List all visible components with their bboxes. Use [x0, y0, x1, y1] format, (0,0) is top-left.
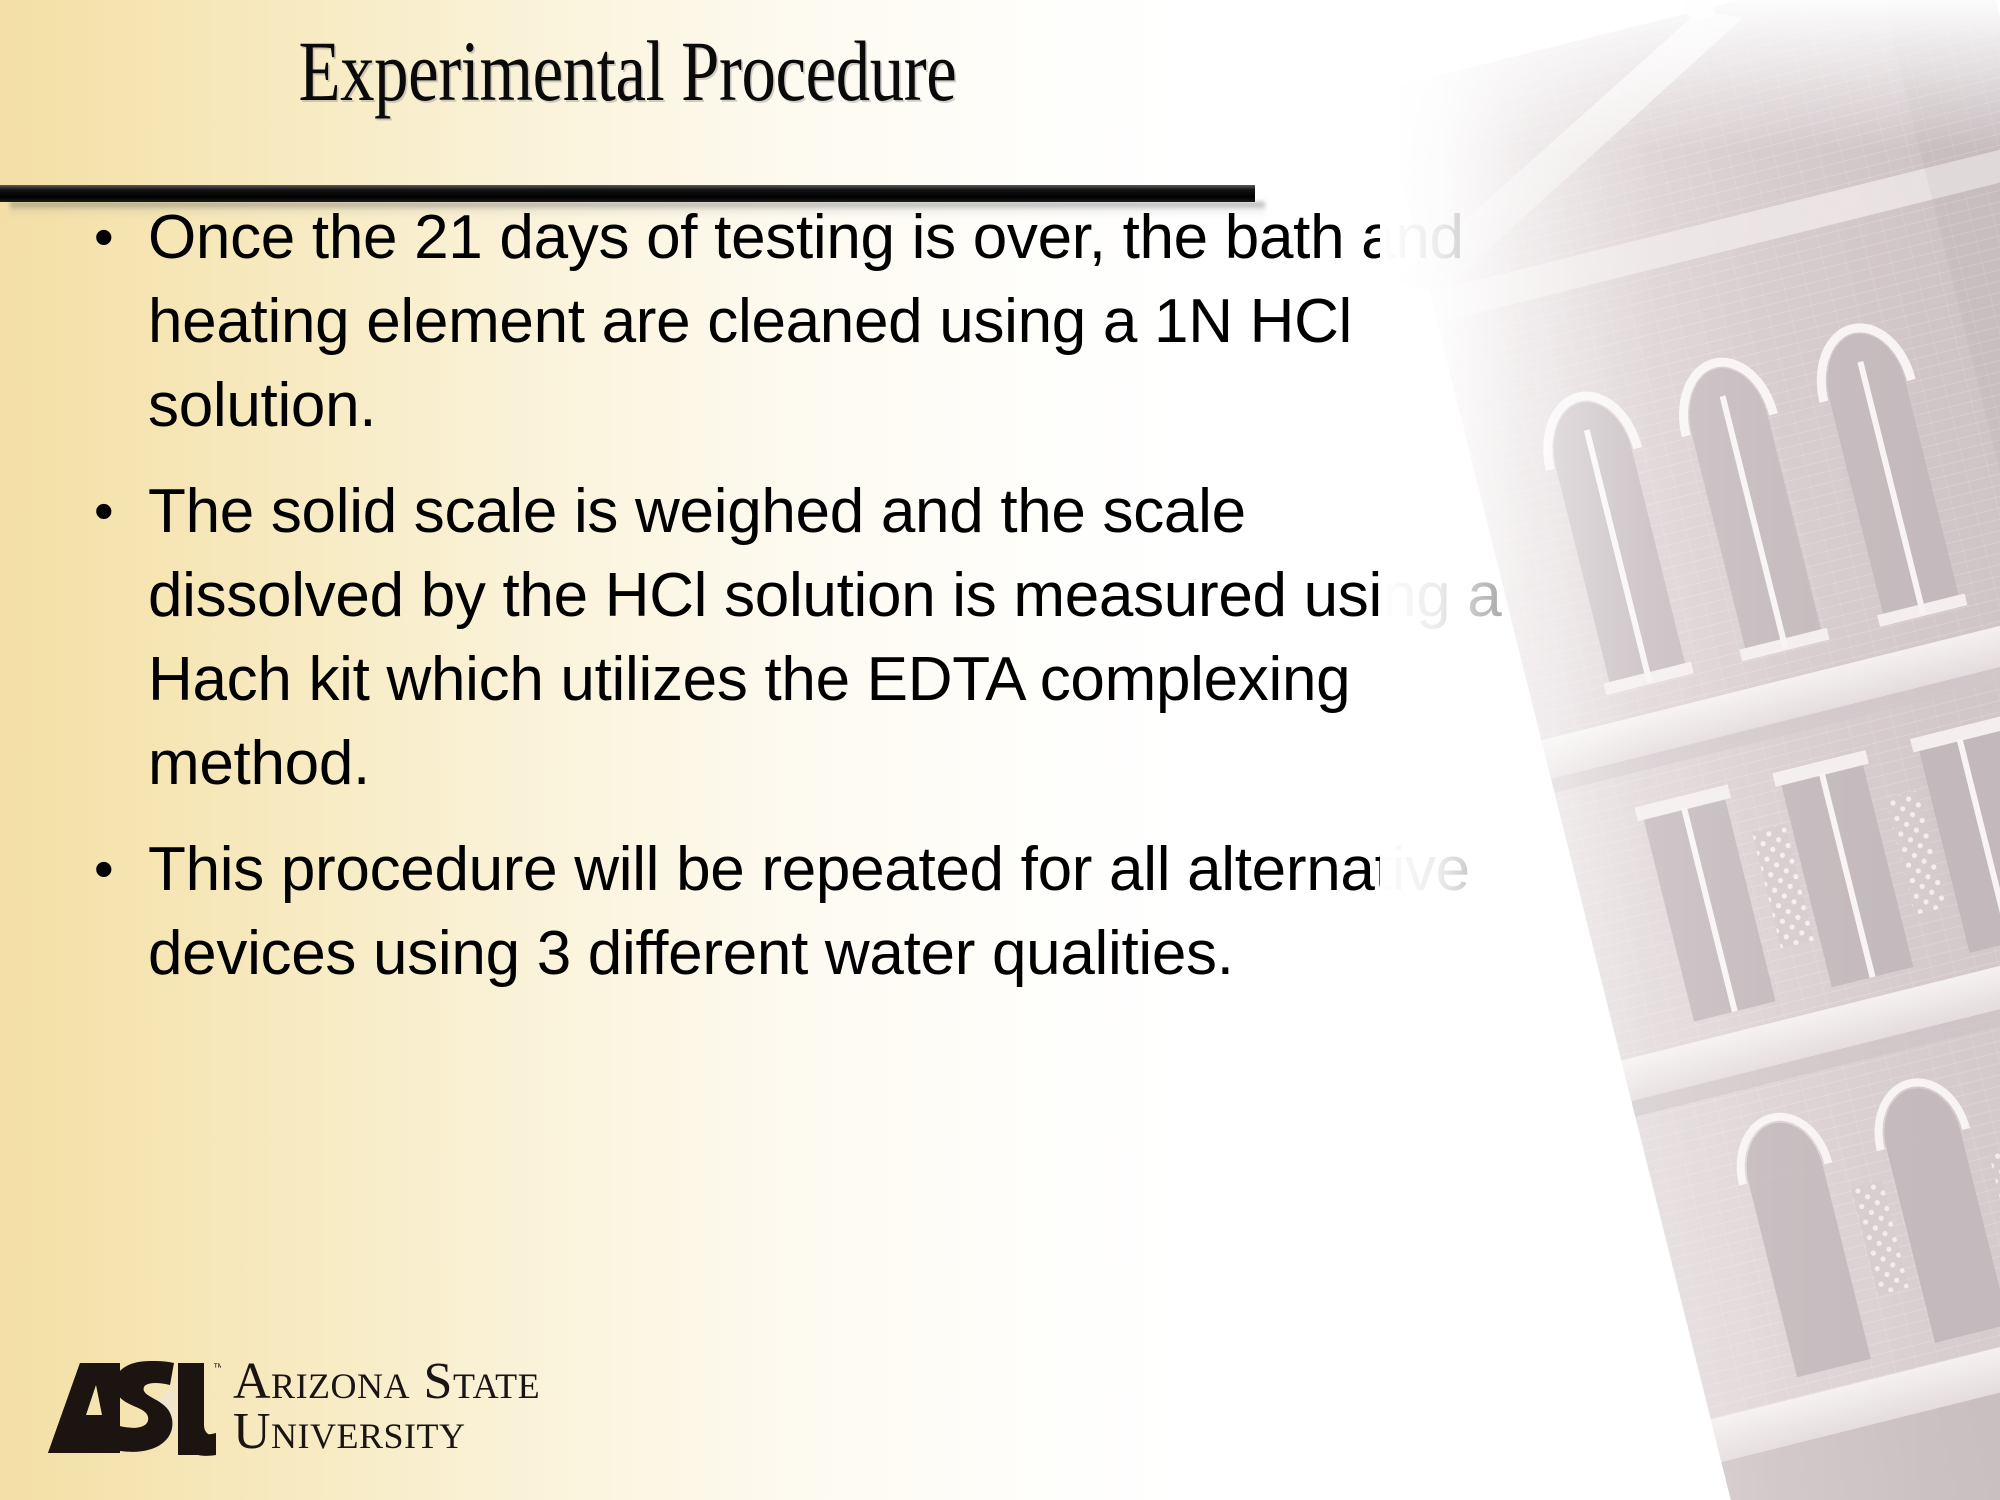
presentation-slide: Experimental Procedure • Once the 21 day…	[0, 0, 2000, 1500]
asu-monogram-icon: ™	[46, 1355, 221, 1459]
asu-wordmark: Arizona State University	[233, 1357, 540, 1457]
page-title: Experimental Procedure	[126, 26, 1130, 117]
svg-text:™: ™	[213, 1362, 221, 1374]
slide-body: • Once the 21 days of testing is over, t…	[86, 196, 1506, 1018]
asu-wordmark-line2: University	[233, 1407, 540, 1457]
bullet-marker-icon: •	[86, 196, 148, 278]
asu-logo: ™ Arizona State University	[46, 1353, 540, 1461]
list-item: • This procedure will be repeated for al…	[86, 828, 1506, 996]
bullet-marker-icon: •	[86, 828, 148, 910]
asu-wordmark-line1: Arizona State	[233, 1357, 540, 1407]
bullet-text: Once the 21 days of testing is over, the…	[148, 196, 1506, 448]
bullet-text: This procedure will be repeated for all …	[148, 828, 1506, 996]
bullet-text: The solid scale is weighed and the scale…	[148, 470, 1506, 806]
list-item: • Once the 21 days of testing is over, t…	[86, 196, 1506, 448]
photo-top-fade	[1380, 0, 2000, 150]
list-item: • The solid scale is weighed and the sca…	[86, 470, 1506, 806]
bullet-marker-icon: •	[86, 470, 148, 552]
